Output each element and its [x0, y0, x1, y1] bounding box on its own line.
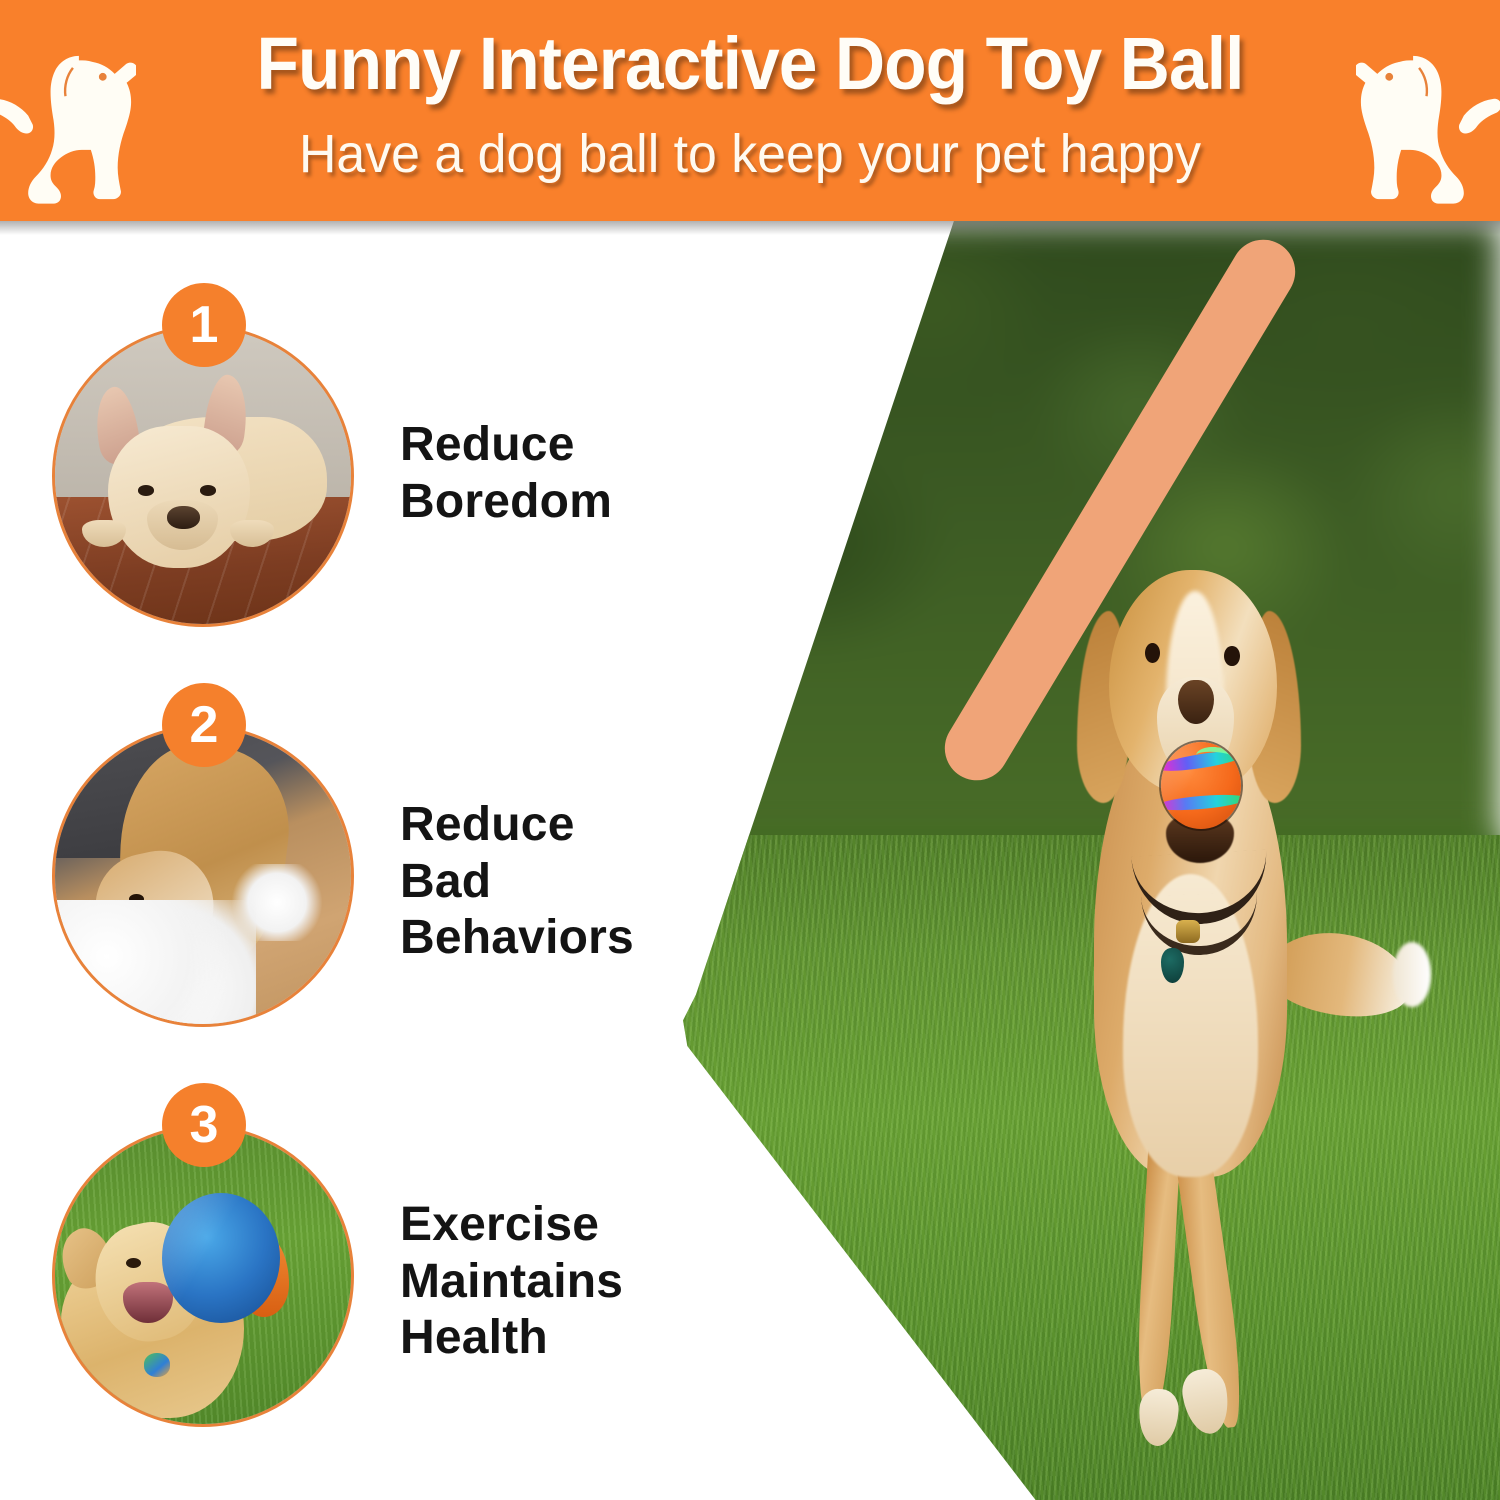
collar-buckle-icon [1176, 920, 1200, 943]
photo2-shredded-stuffing [52, 900, 256, 1027]
header-banner: Funny Interactive Dog Toy Ball Have a do… [0, 0, 1500, 221]
feature-number-badge: 3 [162, 1083, 246, 1167]
feature-label: Reduce Bad Behaviors [400, 797, 634, 967]
page-subtitle: Have a dog ball to keep your pet happy [30, 125, 1470, 184]
photo1-dog-left-eye [138, 485, 154, 496]
hero-photo [640, 221, 1500, 1500]
feature-photo-1 [52, 325, 354, 627]
feature-photo-3 [52, 1125, 354, 1427]
ball-rainbow-stripe-bottom [1161, 792, 1240, 813]
photo3-blue-ball [162, 1193, 280, 1323]
toy-ball-icon [1161, 742, 1240, 829]
photo3-collar-tag [144, 1353, 171, 1377]
feature-label: Reduce Boredom [400, 417, 612, 530]
feature-label: Exercise Maintains Health [400, 1197, 623, 1367]
feature-number-badge: 1 [162, 283, 246, 367]
dog-tail-tip [1393, 942, 1432, 1007]
feature-number-badge: 2 [162, 683, 246, 767]
dog-right-eye [1224, 646, 1239, 666]
collar-tag-icon [1161, 948, 1183, 982]
hero-image [640, 221, 1500, 1500]
banner-shadow [0, 221, 1500, 235]
page-title: Funny Interactive Dog Toy Ball [45, 24, 1455, 104]
dog-front-left-paw [1137, 1388, 1180, 1447]
dog-silhouette-icon [1356, 44, 1500, 220]
photo1-dog-nose [167, 506, 200, 530]
photo1-dog-right-eye [200, 485, 216, 496]
feature-photo-2 [52, 725, 354, 1027]
